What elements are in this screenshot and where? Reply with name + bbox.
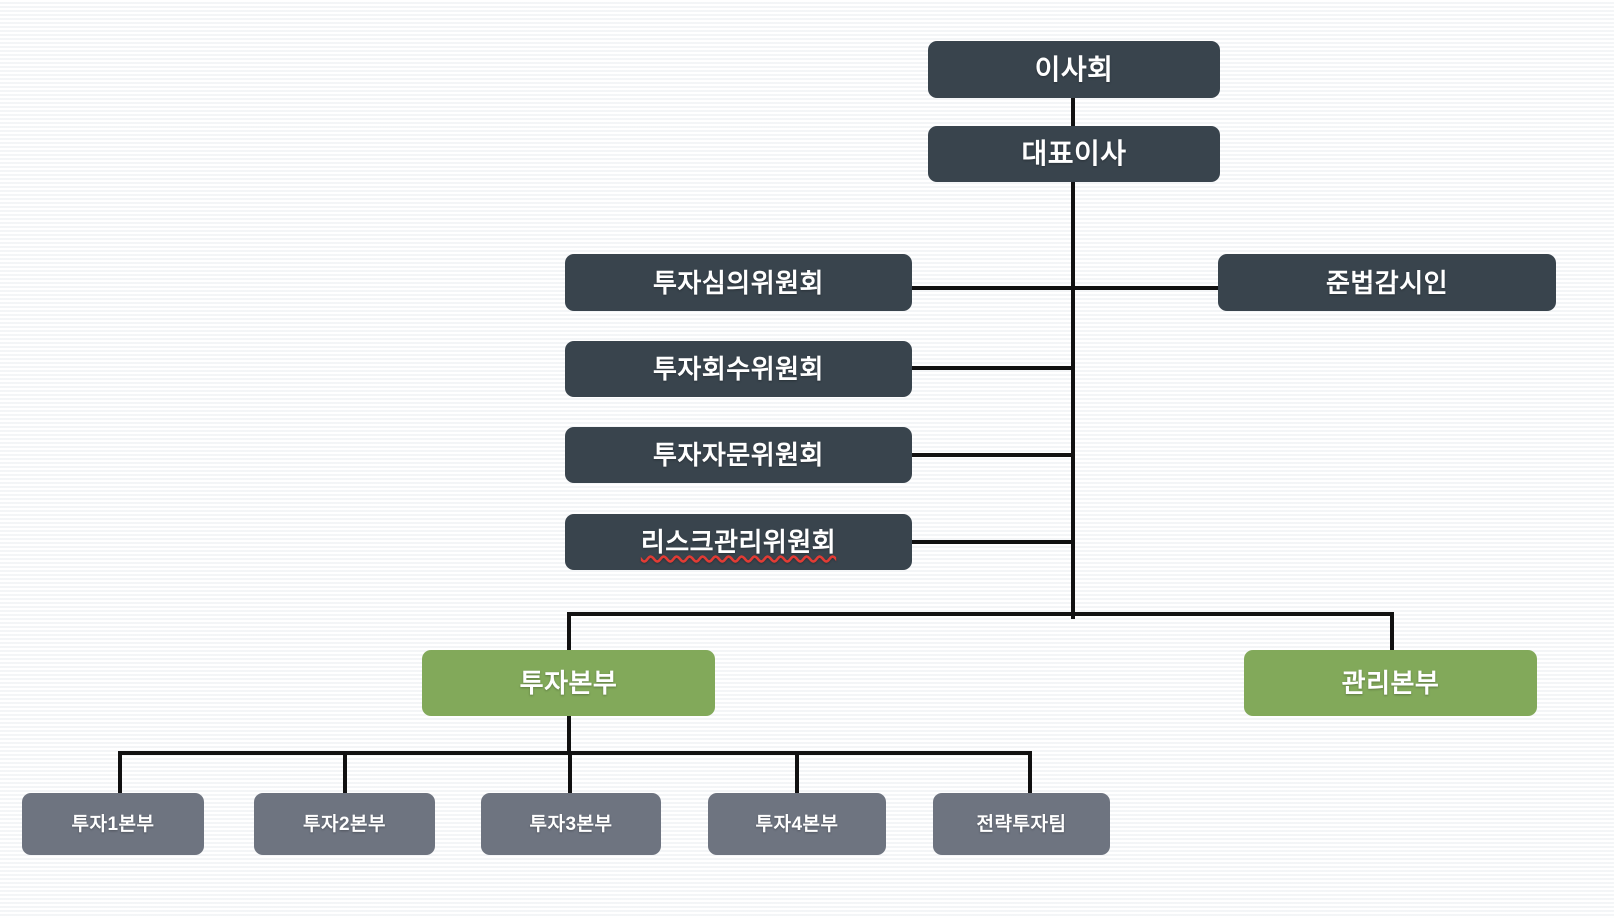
node-label: 투자회수위원회 — [653, 356, 824, 382]
node-division-1[interactable]: 투자본부 — [422, 650, 715, 716]
node-label: 투자자문위원회 — [653, 442, 824, 468]
node-label: 투자심의위원회 — [653, 270, 824, 296]
node-label: 이사회 — [1035, 56, 1114, 84]
node-label: 전략투자팀 — [977, 815, 1067, 834]
node-team-5[interactable]: 전략투자팀 — [933, 793, 1110, 855]
node-compliance-officer[interactable]: 준법감시인 — [1218, 254, 1556, 311]
node-label: 투자4본부 — [756, 815, 839, 834]
node-team-4[interactable]: 투자4본부 — [708, 793, 886, 855]
node-committee-2[interactable]: 투자회수위원회 — [565, 341, 912, 397]
node-team-3[interactable]: 투자3본부 — [481, 793, 661, 855]
org-chart-canvas: 이사회 대표이사 준법감시인 투자심의위원회투자회수위원회투자자문위원회리스크관… — [0, 0, 1614, 916]
node-team-1[interactable]: 투자1본부 — [22, 793, 204, 855]
node-label: 리스크관리위원회 — [641, 529, 836, 555]
node-label: 투자3본부 — [530, 815, 613, 834]
node-committee-1[interactable]: 투자심의위원회 — [565, 254, 912, 311]
node-label: 투자본부 — [520, 670, 618, 696]
node-label: 투자2본부 — [303, 815, 386, 834]
node-label: 준법감시인 — [1326, 270, 1448, 296]
node-label: 대표이사 — [1021, 140, 1126, 168]
node-board-of-directors[interactable]: 이사회 — [928, 41, 1220, 98]
node-label: 관리본부 — [1342, 670, 1440, 696]
node-committee-4[interactable]: 리스크관리위원회 — [565, 514, 912, 570]
node-ceo[interactable]: 대표이사 — [928, 126, 1220, 182]
node-committee-3[interactable]: 투자자문위원회 — [565, 427, 912, 483]
node-team-2[interactable]: 투자2본부 — [254, 793, 435, 855]
node-division-2[interactable]: 관리본부 — [1244, 650, 1537, 716]
node-label: 투자1본부 — [72, 815, 155, 834]
